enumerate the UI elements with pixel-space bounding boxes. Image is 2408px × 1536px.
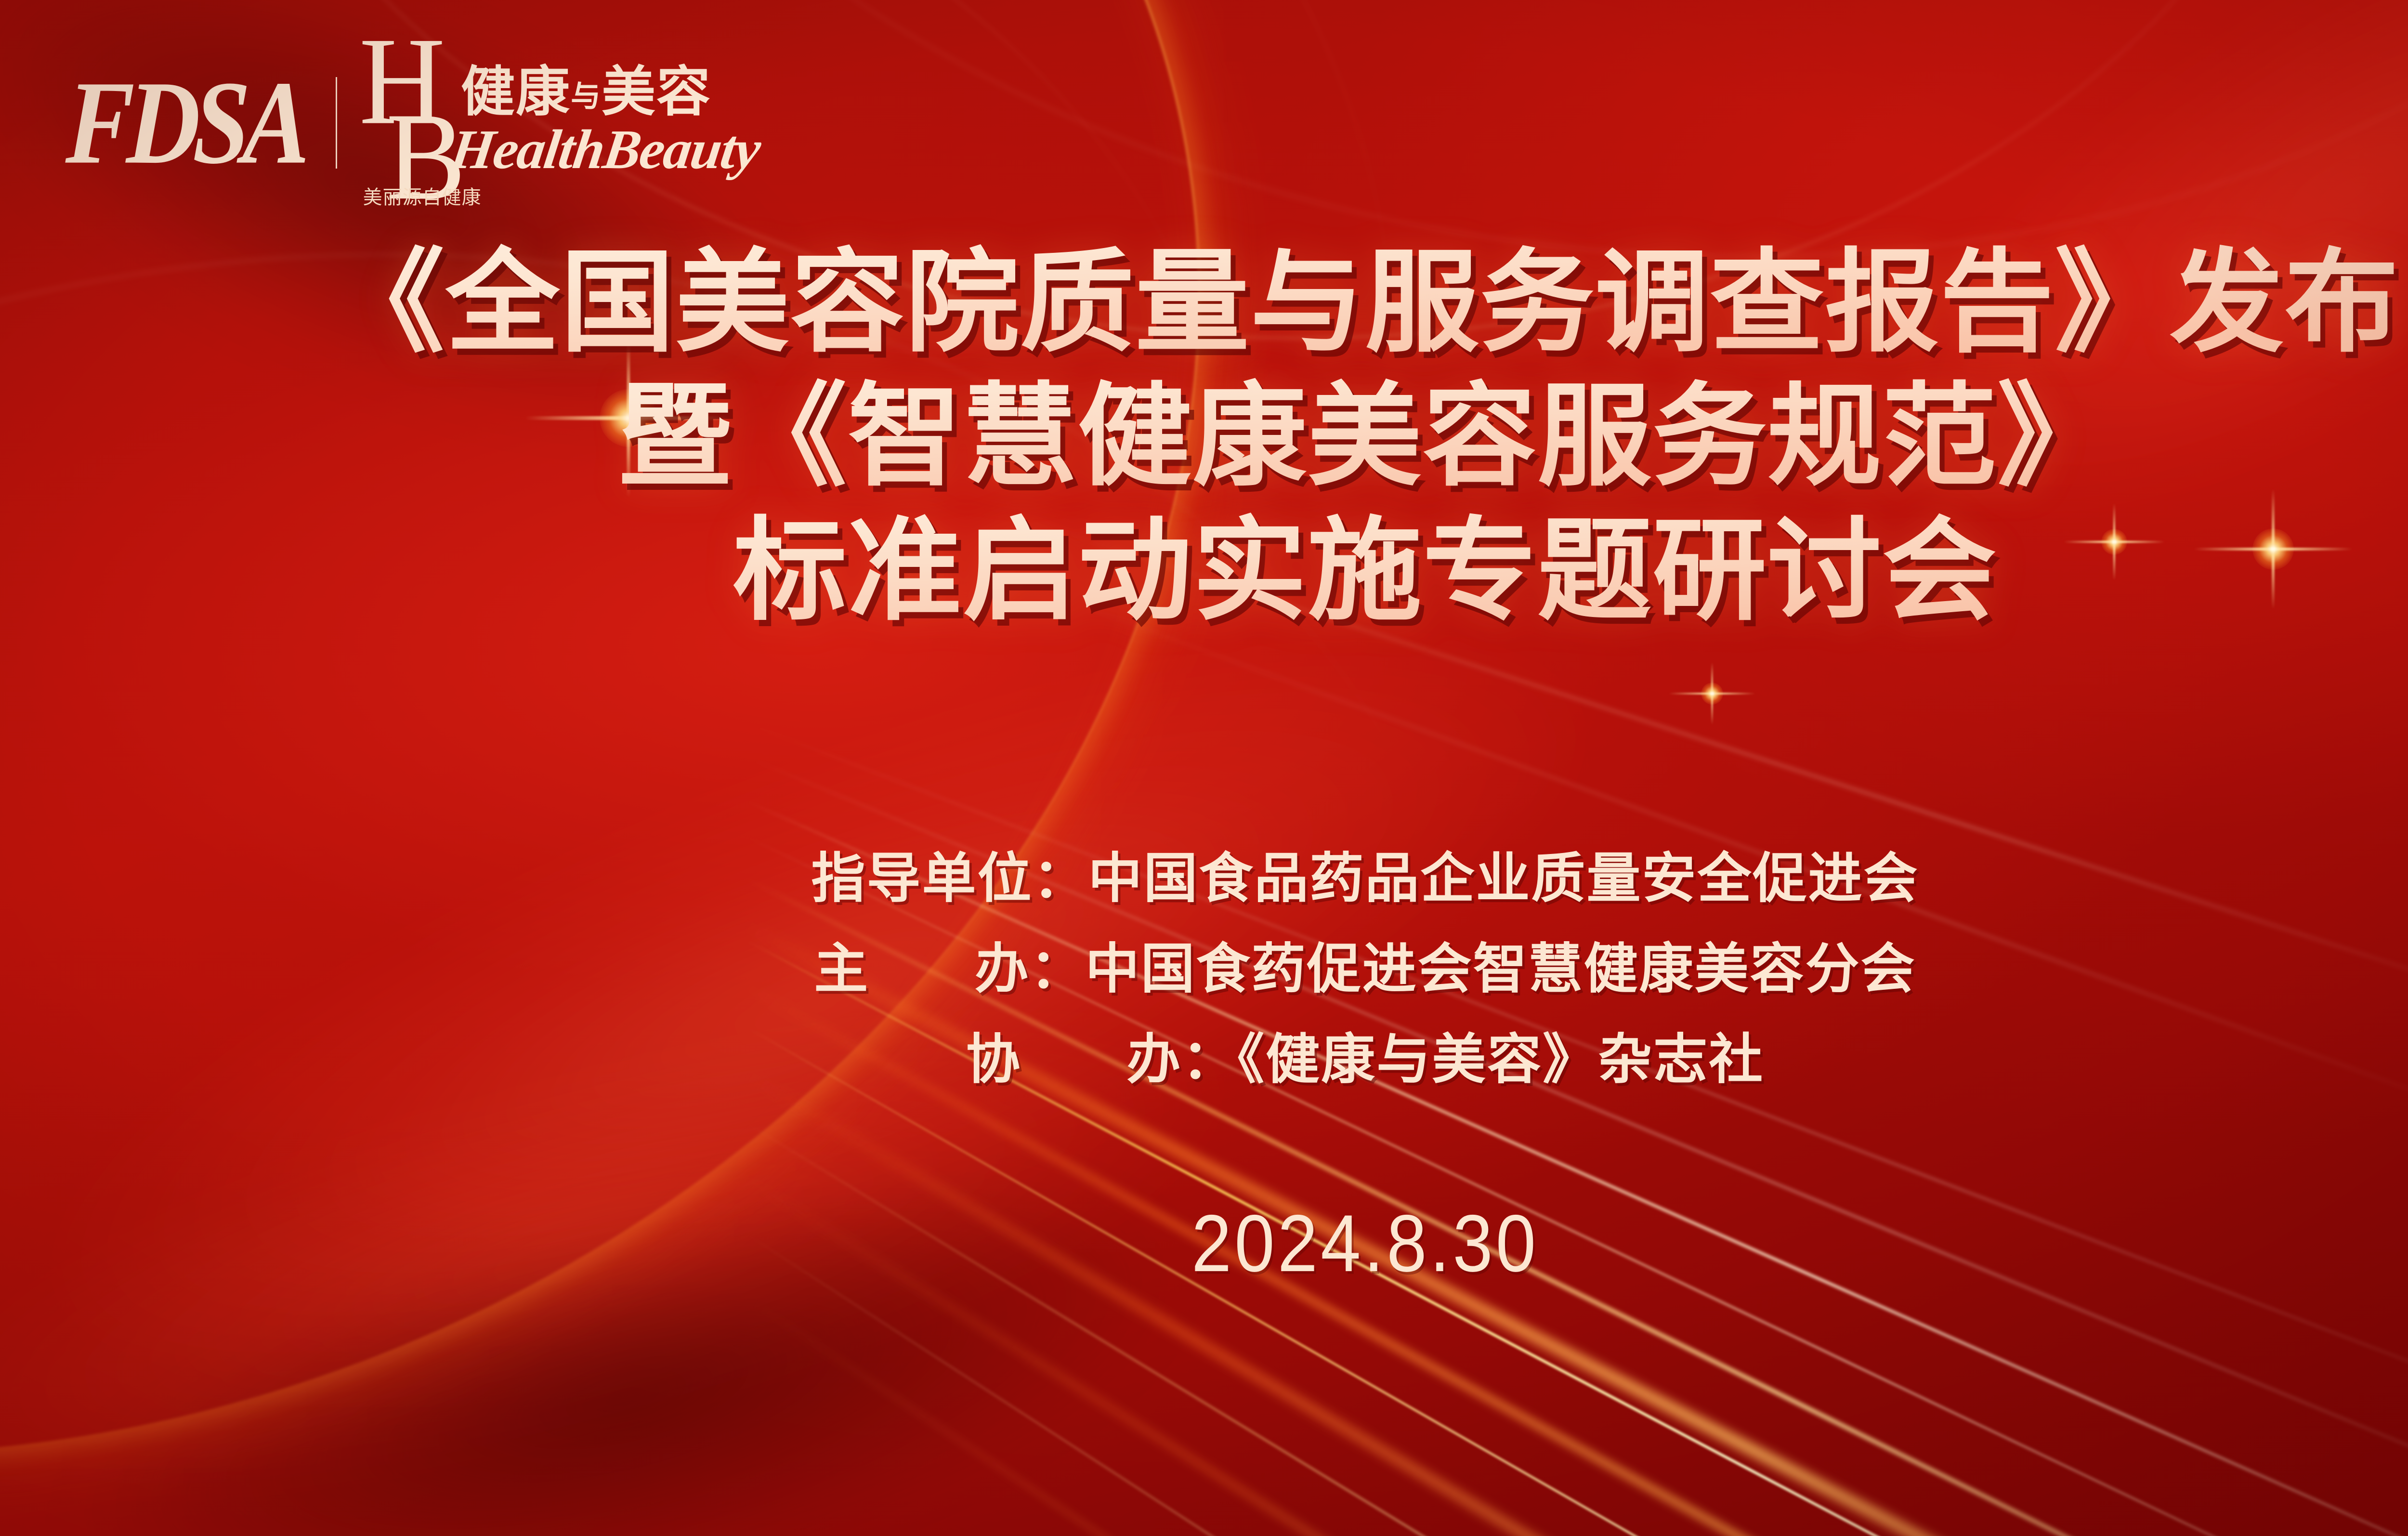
title-line-2: 暨《智慧健康美容服务规范》 (0, 370, 2408, 504)
organizer-separator-guidance: ： (1033, 848, 1088, 908)
event-date: 2024.8.30 (1191, 1197, 1539, 1290)
organizer-row-host: 主办：中国食药促进会智慧健康美容分会 (0, 924, 2408, 1014)
organizer-row-cohost: 协办：《健康与美容》杂志社 (0, 1014, 2408, 1105)
brand-logo-lockup: FDSA H B 美丽源自健康 健康与美容 HealthBeauty (66, 67, 759, 178)
background-arc-gold (0, 0, 1510, 1536)
organizer-label-guidance: 指导单位 (811, 833, 1033, 924)
organizer-value-guidance: 中国食品药品企业质量安全促进会 (1088, 848, 1919, 908)
organizer-label-host: 主 (814, 924, 869, 1014)
hb-initials: H B (359, 29, 464, 208)
organizer-credits: 指导单位：中国食品药品企业质量安全促进会 主办：中国食药促进会智慧健康美容分会 … (0, 833, 2408, 1105)
hb-english-wordmark: HealthBeauty (447, 122, 763, 178)
logo-divider (336, 77, 337, 169)
fdsa-logo-mark: FDSA (65, 63, 308, 183)
sparkle-icon-lower (1664, 645, 1760, 742)
hb-wordmark-group: 健康与美容 HealthBeauty (461, 65, 759, 178)
organizer-label-host-tail: 办 (975, 924, 1030, 1014)
title-line-3: 标准启动实施专题研讨会 (0, 504, 2408, 638)
organizer-label-cohost-tail: 办 (1126, 1014, 1182, 1105)
organizer-separator-cohost: ： (1182, 1029, 1237, 1090)
organizer-value-host: 中国食药促进会智慧健康美容分会 (1086, 939, 1916, 999)
background-arc-soft-1 (0, 0, 1490, 1536)
event-poster: FDSA H B 美丽源自健康 健康与美容 HealthBeauty 《全国美容… (0, 0, 2408, 1536)
hb-logo-mark: H B 美丽源自健康 (359, 38, 464, 208)
event-date-block: 2024.8.30 (0, 1202, 2408, 1285)
vignette-overlay (0, 0, 2408, 1536)
event-title: 《全国美容院质量与服务调查报告》发布 暨《智慧健康美容服务规范》 标准启动实施专… (0, 236, 2408, 638)
title-line-1: 《全国美容院质量与服务调查报告》发布 (0, 236, 2408, 370)
organizer-row-guidance: 指导单位：中国食品药品企业质量安全促进会 (0, 833, 2408, 924)
hb-chinese-wordmark: 健康与美容 (461, 65, 759, 119)
organizer-separator-host: ： (1030, 939, 1086, 999)
organizer-label-cohost: 协 (966, 1014, 1021, 1105)
background-arc-gold-glow (0, 0, 1524, 1536)
organizer-value-cohost: 《健康与美容》杂志社 (1237, 1029, 1764, 1090)
hb-tagline: 美丽源自健康 (363, 182, 482, 210)
